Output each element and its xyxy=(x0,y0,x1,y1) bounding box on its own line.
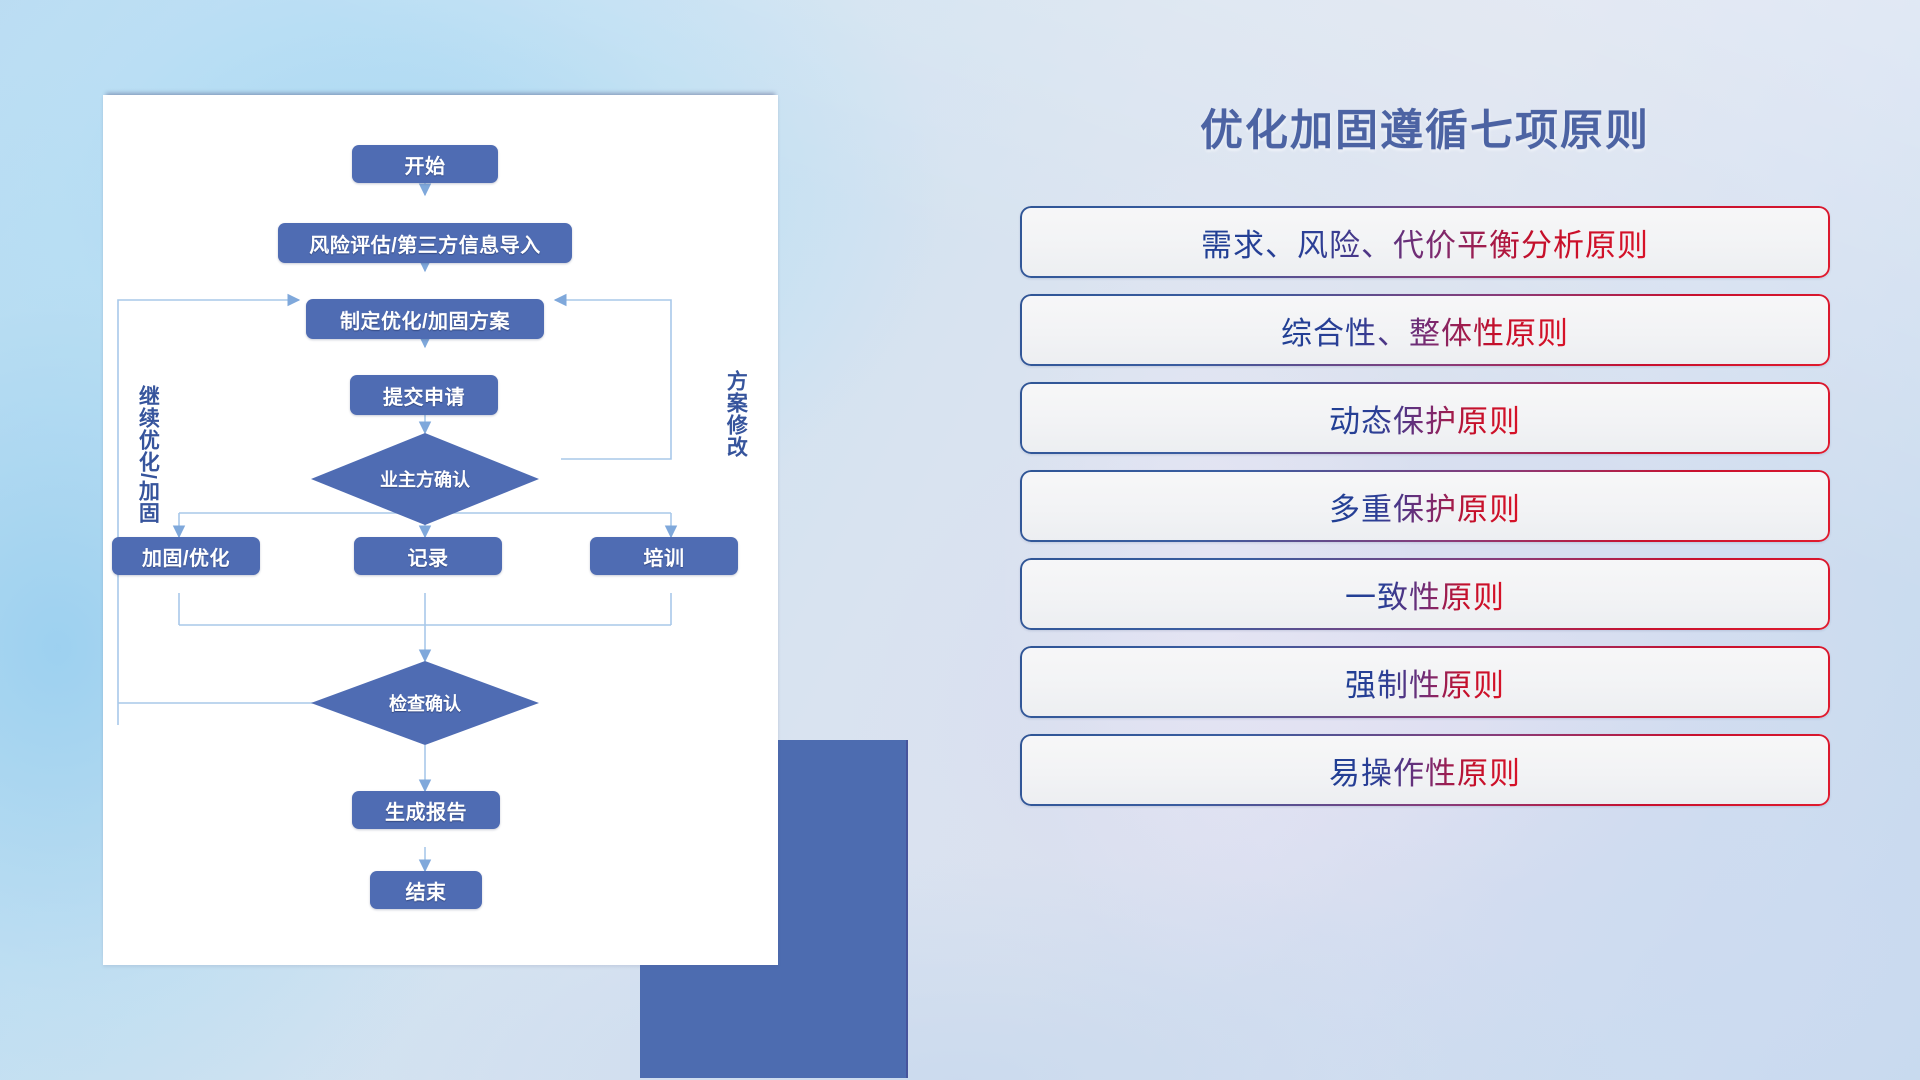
flow-node-label: 检查确认 xyxy=(389,690,461,716)
flow-node-start[interactable]: 开始 xyxy=(352,145,498,183)
flow-edge-label-continue-optimize: 继续优化/加固 xyxy=(137,385,158,565)
flow-node-label: 生成报告 xyxy=(385,796,467,825)
principles-list: 需求、风险、代价平衡分析原则 综合性、整体性原则 动态保护原则 多重保护原则 一… xyxy=(1020,206,1830,806)
principle-label: 强制性原则 xyxy=(1345,660,1505,705)
principle-label: 动态保护原则 xyxy=(1329,396,1521,441)
flow-node-plan[interactable]: 制定优化/加固方案 xyxy=(306,299,544,339)
flow-node-label: 提交申请 xyxy=(383,381,465,410)
principle-label: 易操作性原则 xyxy=(1329,748,1521,793)
flow-node-label: 记录 xyxy=(408,542,449,571)
flow-node-label: 风险评估/第三方信息导入 xyxy=(309,229,541,258)
flow-node-risk-assessment[interactable]: 风险评估/第三方信息导入 xyxy=(278,223,572,263)
principle-card[interactable]: 强制性原则 xyxy=(1020,646,1830,718)
flow-node-end[interactable]: 结束 xyxy=(370,871,482,909)
principle-card[interactable]: 多重保护原则 xyxy=(1020,470,1830,542)
principles-panel: 优化加固遵循七项原则 需求、风险、代价平衡分析原则 综合性、整体性原则 动态保护… xyxy=(1020,90,1830,1010)
flow-node-label: 业主方确认 xyxy=(380,466,470,492)
principle-card[interactable]: 需求、风险、代价平衡分析原则 xyxy=(1020,206,1830,278)
principle-card[interactable]: 一致性原则 xyxy=(1020,558,1830,630)
flow-node-submit[interactable]: 提交申请 xyxy=(350,375,498,415)
panel-title: 优化加固遵循七项原则 xyxy=(1020,96,1830,158)
flow-node-label: 开始 xyxy=(405,150,446,179)
flow-node-record[interactable]: 记录 xyxy=(354,537,502,575)
principle-card[interactable]: 动态保护原则 xyxy=(1020,382,1830,454)
principle-label: 需求、风险、代价平衡分析原则 xyxy=(1201,220,1649,265)
principle-label: 综合性、整体性原则 xyxy=(1281,308,1569,353)
flowchart-region: 开始 风险评估/第三方信息导入 制定优化/加固方案 提交申请 业主方确认 加固/… xyxy=(103,95,805,983)
flow-node-label: 培训 xyxy=(644,542,685,571)
flow-node-reinforce[interactable]: 加固/优化 xyxy=(112,537,260,575)
principle-label: 一致性原则 xyxy=(1345,572,1505,617)
flow-node-report[interactable]: 生成报告 xyxy=(352,791,500,829)
flow-node-label: 结束 xyxy=(406,876,447,905)
principle-label: 多重保护原则 xyxy=(1329,484,1521,529)
principle-card[interactable]: 综合性、整体性原则 xyxy=(1020,294,1830,366)
flow-edge-label-plan-revision: 方案修改 xyxy=(725,370,746,500)
flow-node-label: 制定优化/加固方案 xyxy=(340,305,510,334)
flow-node-training[interactable]: 培训 xyxy=(590,537,738,575)
principle-card[interactable]: 易操作性原则 xyxy=(1020,734,1830,806)
